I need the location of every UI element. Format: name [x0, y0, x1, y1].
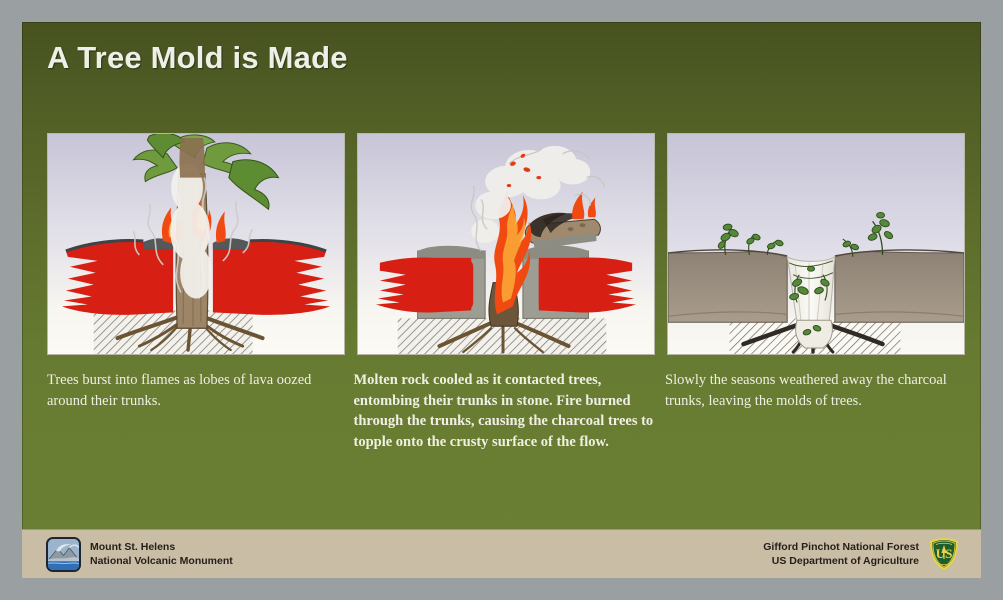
- forest-line-2: US Department of Agriculture: [763, 554, 919, 568]
- footer-right-text: Gifford Pinchot National Forest US Depar…: [763, 540, 919, 568]
- panel-2-illustration: [358, 134, 654, 354]
- mount-st-helens-logo-icon: [46, 537, 81, 572]
- msh-line-2: National Volcanic Monument: [90, 554, 233, 568]
- panel-2-caption: Molten rock cooled as it contacted trees…: [354, 370, 659, 490]
- forest-line-1: Gifford Pinchot National Forest: [763, 540, 919, 554]
- footer-right-group: Gifford Pinchot National Forest US Depar…: [763, 538, 981, 570]
- panel-2-frame: [357, 133, 655, 355]
- panel-1-caption: Trees burst into flames as lobes of lava…: [47, 370, 347, 490]
- panel-2-cooled-rock: [357, 133, 655, 355]
- illustration-panel-row: [47, 133, 965, 355]
- screenshot-canvas: A Tree Mold is Made: [0, 0, 1003, 600]
- msh-line-1: Mount St. Helens: [90, 540, 233, 554]
- panel-3-caption: Slowly the seasons weathered away the ch…: [665, 370, 965, 490]
- usda-forest-service-shield-icon: US: [929, 538, 959, 570]
- caption-row: Trees burst into flames as lobes of lava…: [47, 370, 965, 490]
- panel-1-illustration: [48, 134, 344, 354]
- footer-left-text: Mount St. Helens National Volcanic Monum…: [90, 540, 233, 568]
- panel-3-frame: [667, 133, 965, 355]
- panel-1-burning-tree: [47, 133, 345, 355]
- panel-1-frame: [47, 133, 345, 355]
- page-title: A Tree Mold is Made: [47, 40, 348, 76]
- sign-footer: Mount St. Helens National Volcanic Monum…: [22, 529, 981, 578]
- panel-3-illustration: [668, 134, 964, 354]
- panel-3-tree-mold: [667, 133, 965, 355]
- interpretive-sign-board: A Tree Mold is Made: [22, 22, 981, 578]
- footer-left-group: Mount St. Helens National Volcanic Monum…: [22, 537, 233, 572]
